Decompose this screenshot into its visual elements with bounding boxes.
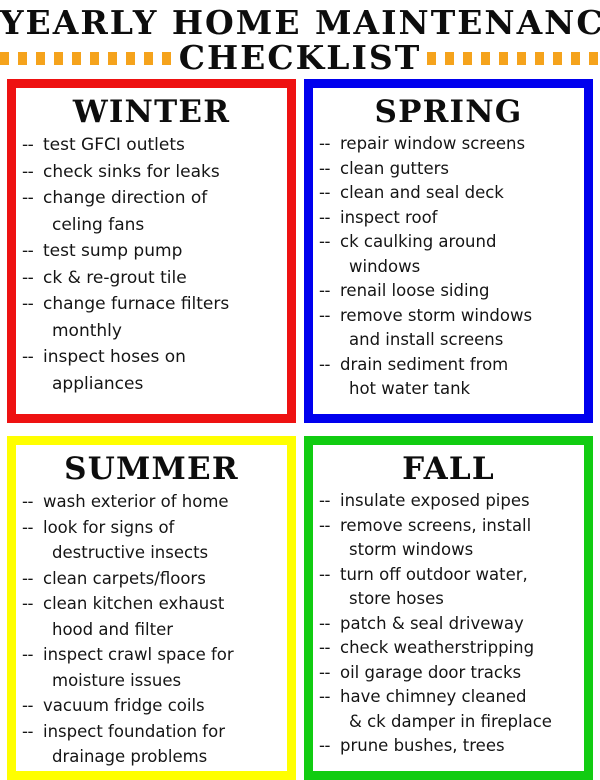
checklist-item-continuation: & ck damper in fireplace [340,710,579,735]
checklist-item-continuation: storm windows [340,538,579,563]
checklist-item[interactable]: --wash exterior of home [22,489,282,515]
checklist-item-text: vacuum fridge coils [42,693,282,719]
dash-marker-icon: -- [22,159,42,186]
season-card-winter: WINTER --test GFCI outlets--check sinks … [7,79,296,423]
season-item-list-spring: --repair window screens--clean gutters--… [318,132,579,411]
season-item-list-winter: --test GFCI outlets--check sinks for lea… [21,132,282,411]
checklist-item-continuation: store hoses [340,587,579,612]
dash-marker-icon: -- [22,291,42,318]
page-title-line-2: CHECKLIST [0,43,600,73]
checklist-item-continuation: celing fans [43,212,282,239]
dash-marker-icon: -- [319,563,339,588]
checklist-item-continuation: hot water tank [340,377,579,402]
season-title-summer: SUMMER [21,449,282,489]
dash-marker-icon: -- [319,132,339,157]
checklist-item[interactable]: --change furnace filtersmonthly [22,291,282,344]
checklist-item-text: repair window screens [339,132,579,157]
checklist-item[interactable]: --clean gutters [319,157,579,182]
checklist-item[interactable]: --repair window screens [319,132,579,157]
checklist-item-text: inspect hoses onappliances [42,344,282,397]
checklist-item-text: test sump pump [42,238,282,265]
page-title-checklist-word: CHECKLIST [179,41,422,75]
checklist-item-text: renail loose siding [339,279,579,304]
dash-marker-icon: -- [319,279,339,304]
checklist-item-text: clean carpets/floors [42,566,282,592]
dash-marker-icon: -- [22,642,42,668]
dash-marker-icon: -- [319,181,339,206]
checklist-item-text: change furnace filtersmonthly [42,291,282,344]
checklist-item[interactable]: --test sump pump [22,238,282,265]
season-item-list-summer: --wash exterior of home--look for signs … [21,489,282,770]
season-title-winter: WINTER [21,92,282,132]
checklist-item-text: remove screens, installstorm windows [339,514,579,563]
checklist-item[interactable]: --patch & seal driveway [319,612,579,637]
checklist-item[interactable]: --inspect foundation fordrainage problem… [22,719,282,770]
checklist-page: YEARLY HOME MAINTENANCE CHECKLIST WINTER… [0,0,600,776]
dash-marker-icon: -- [22,132,42,159]
season-card-winter-inner: WINTER --test GFCI outlets--check sinks … [20,91,283,412]
season-item-list-fall: --insulate exposed pipes--remove screens… [318,489,579,768]
dash-marker-icon: -- [319,353,339,378]
dash-marker-icon: -- [319,304,339,329]
checklist-item-text: ck caulking aroundwindows [339,230,579,279]
page-title-line-1: YEARLY HOME MAINTENANCE [0,4,600,42]
dash-marker-icon: -- [22,489,42,515]
dash-marker-icon: -- [319,661,339,686]
checklist-item-continuation: windows [340,255,579,280]
checklist-item[interactable]: --look for signs ofdestructive insects [22,515,282,566]
dash-marker-icon: -- [22,719,42,745]
checklist-item-text: prune bushes, trees [339,734,579,759]
checklist-item-text: check weatherstripping [339,636,579,661]
dash-marker-icon: -- [319,157,339,182]
dashed-rule-left-icon [0,52,173,65]
checklist-item[interactable]: --vacuum fridge coils [22,693,282,719]
dash-marker-icon: -- [319,734,339,759]
dash-marker-icon: -- [319,514,339,539]
season-card-summer-inner: SUMMER --wash exterior of home--look for… [20,448,283,769]
checklist-item[interactable]: --remove screens, installstorm windows [319,514,579,563]
dash-marker-icon: -- [22,185,42,212]
checklist-item[interactable]: --clean kitchen exhausthood and filter [22,591,282,642]
checklist-item-continuation: monthly [43,318,282,345]
checklist-item[interactable]: --oil garage door tracks [319,661,579,686]
checklist-item-text: drain sediment fromhot water tank [339,353,579,402]
checklist-item-text: inspect crawl space formoisture issues [42,642,282,693]
dash-marker-icon: -- [22,566,42,592]
season-card-fall-inner: FALL --insulate exposed pipes--remove sc… [317,448,580,769]
checklist-item-continuation: moisture issues [43,668,282,694]
dash-marker-icon: -- [22,238,42,265]
checklist-item-text: insulate exposed pipes [339,489,579,514]
dash-marker-icon: -- [319,685,339,710]
checklist-item[interactable]: --check weatherstripping [319,636,579,661]
season-card-spring: SPRING --repair window screens--clean gu… [304,79,593,423]
season-card-spring-inner: SPRING --repair window screens--clean gu… [317,91,580,412]
season-card-summer: SUMMER --wash exterior of home--look for… [7,436,296,780]
dash-marker-icon: -- [22,515,42,541]
checklist-item-text: turn off outdoor water,store hoses [339,563,579,612]
checklist-item-text: wash exterior of home [42,489,282,515]
dash-marker-icon: -- [22,344,42,371]
checklist-item-text: patch & seal driveway [339,612,579,637]
dash-marker-icon: -- [319,489,339,514]
checklist-item-text: ck & re-grout tile [42,265,282,292]
checklist-item[interactable]: --have chimney cleaned& ck damper in fir… [319,685,579,734]
checklist-item[interactable]: --change direction ofceling fans [22,185,282,238]
dash-marker-icon: -- [319,636,339,661]
checklist-item[interactable]: --renail loose siding [319,279,579,304]
dash-marker-icon: -- [22,591,42,617]
dash-marker-icon: -- [22,265,42,292]
season-title-spring: SPRING [318,92,579,132]
checklist-item-text: remove storm windowsand install screens [339,304,579,353]
dash-marker-icon: -- [319,230,339,255]
checklist-item[interactable]: --check sinks for leaks [22,159,282,186]
checklist-item[interactable]: --clean and seal deck [319,181,579,206]
checklist-item-text: have chimney cleaned& ck damper in firep… [339,685,579,734]
season-card-fall: FALL --insulate exposed pipes--remove sc… [304,436,593,780]
checklist-item[interactable]: --insulate exposed pipes [319,489,579,514]
dash-marker-icon: -- [22,693,42,719]
checklist-item[interactable]: --inspect hoses onappliances [22,344,282,397]
dashed-rule-right-icon [427,52,600,65]
checklist-item-text: clean kitchen exhausthood and filter [42,591,282,642]
checklist-item[interactable]: --clean carpets/floors [22,566,282,592]
checklist-item[interactable]: --inspect crawl space formoisture issues [22,642,282,693]
checklist-item-text: oil garage door tracks [339,661,579,686]
checklist-item-continuation: destructive insects [43,540,282,566]
checklist-item-continuation: hood and filter [43,617,282,643]
checklist-item[interactable]: --test GFCI outlets [22,132,282,159]
checklist-item-continuation: and install screens [340,328,579,353]
checklist-item[interactable]: --ck caulking aroundwindows [319,230,579,279]
checklist-item-text: change direction ofceling fans [42,185,282,238]
checklist-item[interactable]: --prune bushes, trees [319,734,579,759]
page-header: YEARLY HOME MAINTENANCE CHECKLIST [0,0,600,73]
checklist-item-text: clean and seal deck [339,181,579,206]
checklist-item-text: clean gutters [339,157,579,182]
season-title-fall: FALL [318,449,579,489]
checklist-item[interactable]: --turn off outdoor water,store hoses [319,563,579,612]
checklist-item-text: inspect roof [339,206,579,231]
checklist-item-text: test GFCI outlets [42,132,282,159]
checklist-item[interactable]: --drain sediment fromhot water tank [319,353,579,402]
checklist-item-text: look for signs ofdestructive insects [42,515,282,566]
checklist-item-continuation: appliances [43,371,282,398]
dash-marker-icon: -- [319,612,339,637]
season-grid: WINTER --test GFCI outlets--check sinks … [0,73,600,780]
checklist-item[interactable]: --ck & re-grout tile [22,265,282,292]
dash-marker-icon: -- [319,206,339,231]
checklist-item[interactable]: --remove storm windowsand install screen… [319,304,579,353]
checklist-item-continuation: drainage problems [43,744,282,770]
checklist-item-text: check sinks for leaks [42,159,282,186]
checklist-item[interactable]: --inspect roof [319,206,579,231]
checklist-item-text: inspect foundation fordrainage problems [42,719,282,770]
